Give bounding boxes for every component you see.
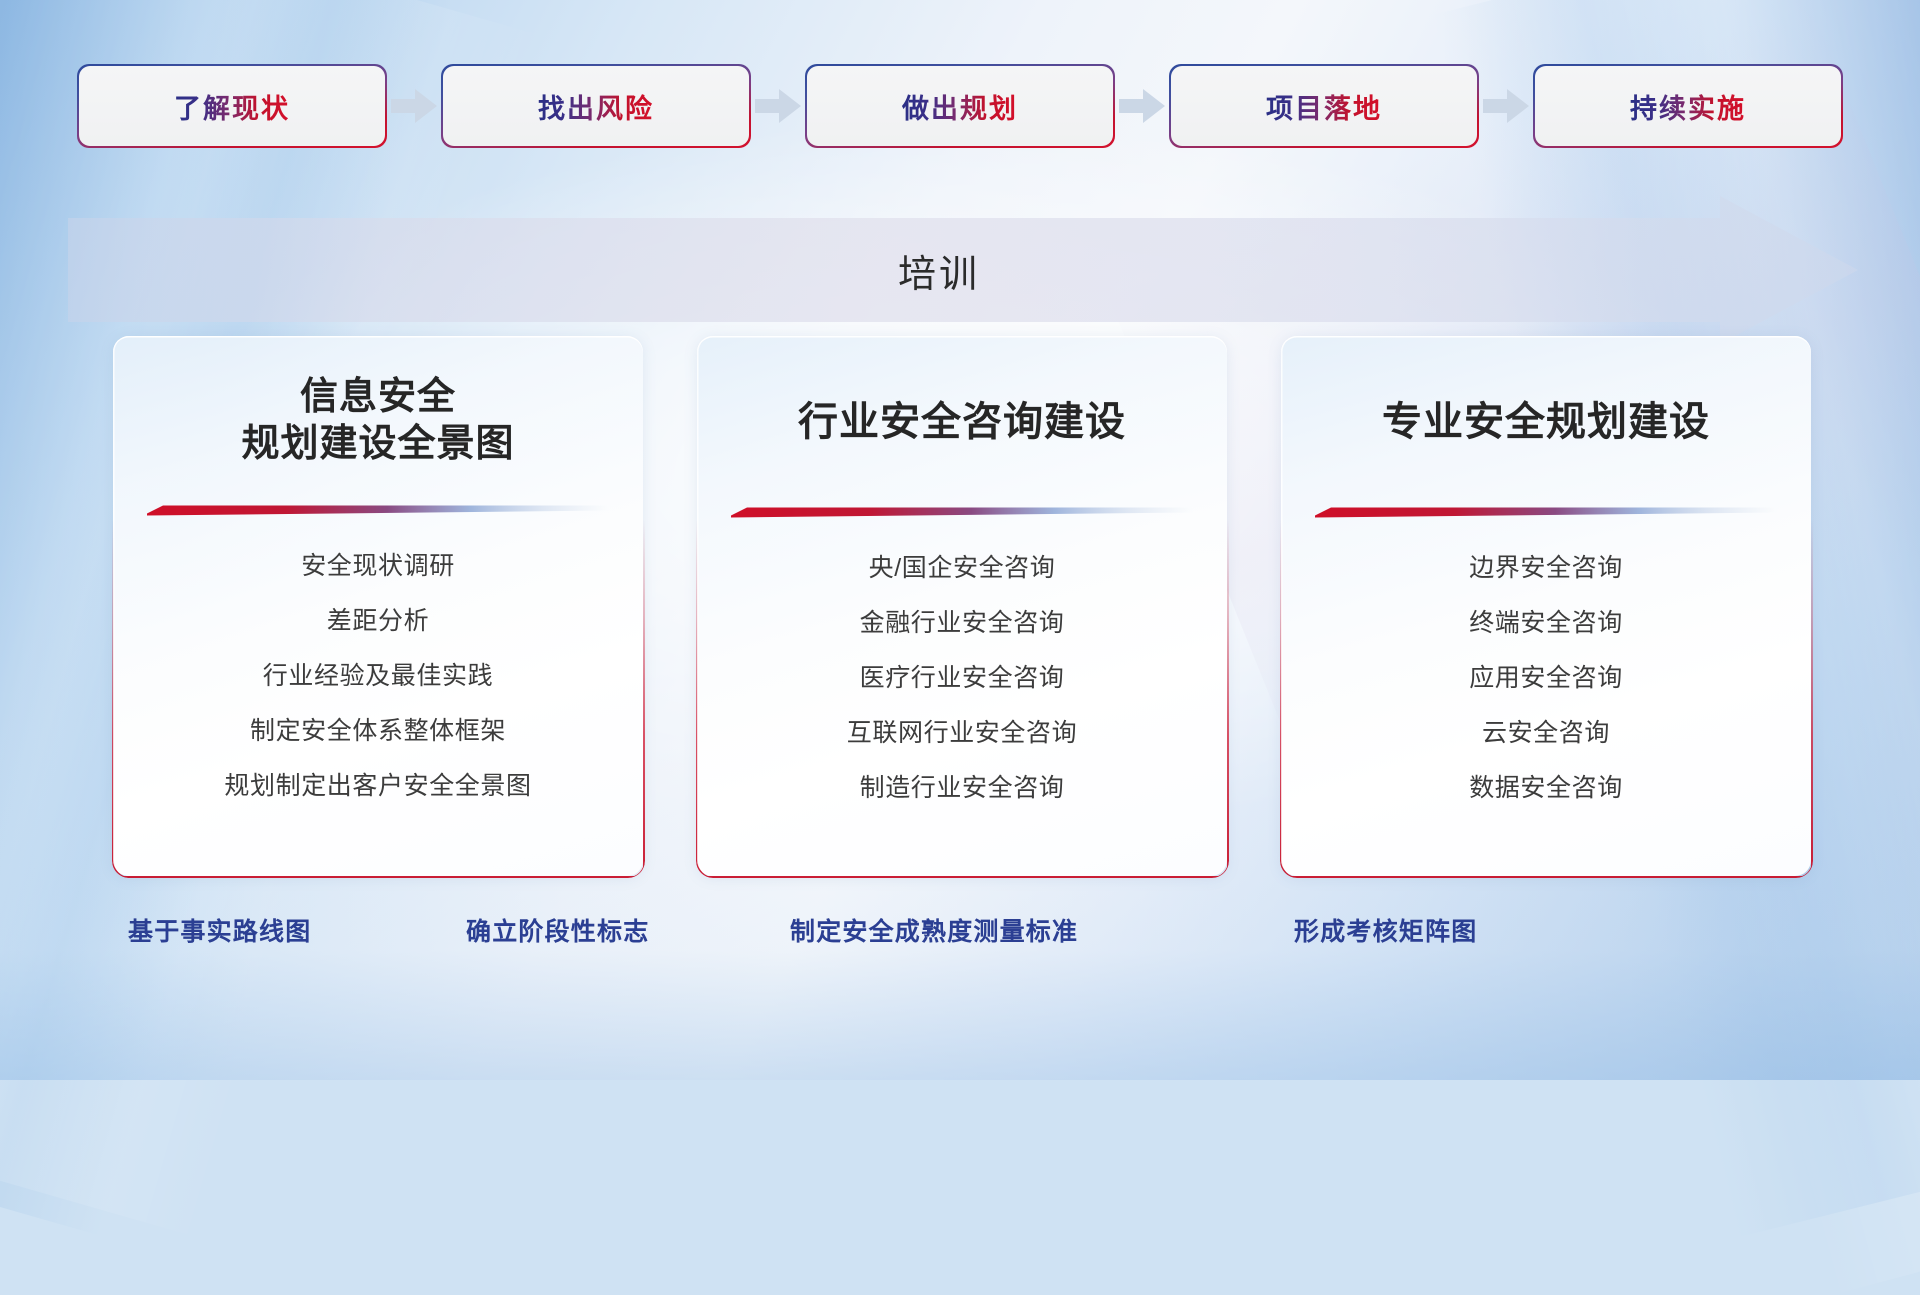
card-title-line-1: 信息安全 [113,374,643,421]
card-item-list-1: 安全现状调研差距分析行业经验及最佳实践制定安全体系整体框架规划制定出客户安全全景… [113,516,643,876]
step-box-5[interactable]: 持续实施 [1535,66,1841,146]
card-divider-1 [147,502,609,516]
card-divider-icon [147,502,609,516]
process-step-row: 了解现状找出风险做出规划项目落地持续实施 [0,62,1920,150]
service-card-2[interactable]: 行业安全咨询建设央/国企安全咨询金融行业安全咨询医疗行业安全咨询互联网行业安全咨… [697,336,1227,876]
arrow-right-icon [755,88,801,124]
card-content: 信息安全规划建设全景图安全现状调研差距分析行业经验及最佳实践制定安全体系整体框架… [113,336,643,876]
step-connector-arrow-3 [1113,62,1171,150]
card-item-list-3: 边界安全咨询终端安全咨询应用安全咨询云安全咨询数据安全咨询 [1281,518,1811,876]
list-item[interactable]: 互联网行业安全咨询 [847,713,1077,749]
card-content: 专业安全规划建设边界安全咨询终端安全咨询应用安全咨询云安全咨询数据安全咨询 [1281,336,1811,876]
card-divider-icon [1315,504,1777,518]
list-item[interactable]: 行业经验及最佳实践 [263,656,493,692]
list-item[interactable]: 安全现状调研 [301,546,455,582]
card-title-line-1: 专业安全规划建设 [1281,398,1811,448]
list-item[interactable]: 云安全咨询 [1482,713,1610,749]
card-divider-3 [1315,504,1777,518]
arrow-right-icon [1483,88,1529,124]
service-card-3[interactable]: 专业安全规划建设边界安全咨询终端安全咨询应用安全咨询云安全咨询数据安全咨询 [1281,336,1811,876]
list-item[interactable]: 差距分析 [327,601,429,637]
card-title-1: 信息安全规划建设全景图 [113,336,643,468]
step-box-4[interactable]: 项目落地 [1171,66,1477,146]
service-card-1[interactable]: 信息安全规划建设全景图安全现状调研差距分析行业经验及最佳实践制定安全体系整体框架… [113,336,643,876]
training-banner-label: 培训 [68,196,1810,344]
footnote-label-2: 确立阶段性标志 [466,912,649,948]
step-connector-arrow-4 [1477,62,1535,150]
step-label-2: 找出风险 [538,87,654,126]
card-divider-2 [731,504,1193,518]
footnote-label-1: 基于事实路线图 [128,912,311,948]
card-title-2: 行业安全咨询建设 [697,336,1227,448]
card-item-list-ul: 边界安全咨询终端安全咨询应用安全咨询云安全咨询数据安全咨询 [1469,548,1623,804]
list-item[interactable]: 规划制定出客户安全全景图 [224,766,531,802]
footnote-label-4: 形成考核矩阵图 [1294,912,1477,948]
step-connector-arrow-2 [749,62,807,150]
list-item[interactable]: 医疗行业安全咨询 [860,658,1065,694]
footnote-label-3: 制定安全成熟度测量标准 [790,912,1078,948]
step-label-3: 做出规划 [902,87,1018,126]
step-box-1[interactable]: 了解现状 [79,66,385,146]
list-item[interactable]: 制定安全体系整体框架 [250,711,506,747]
card-title-3: 专业安全规划建设 [1281,336,1811,448]
list-item[interactable]: 制造行业安全咨询 [860,768,1065,804]
card-item-list-ul: 安全现状调研差距分析行业经验及最佳实践制定安全体系整体框架规划制定出客户安全全景… [224,546,531,802]
card-item-list-ul: 央/国企安全咨询金融行业安全咨询医疗行业安全咨询互联网行业安全咨询制造行业安全咨… [847,548,1077,804]
step-box-3[interactable]: 做出规划 [807,66,1113,146]
list-item[interactable]: 央/国企安全咨询 [869,548,1056,584]
training-banner: 培训 [68,196,1858,344]
list-item[interactable]: 应用安全咨询 [1469,658,1623,694]
arrow-right-icon [391,88,437,124]
step-label-1: 了解现状 [174,87,290,126]
list-item[interactable]: 边界安全咨询 [1469,548,1623,584]
list-item[interactable]: 数据安全咨询 [1469,768,1623,804]
list-item[interactable]: 终端安全咨询 [1469,603,1623,639]
step-label-4: 项目落地 [1266,87,1382,126]
step-box-2[interactable]: 找出风险 [443,66,749,146]
card-title-line-2: 规划建设全景图 [113,421,643,468]
arrow-right-icon [1119,88,1165,124]
service-card-row: 信息安全规划建设全景图安全现状调研差距分析行业经验及最佳实践制定安全体系整体框架… [0,336,1920,876]
card-content: 行业安全咨询建设央/国企安全咨询金融行业安全咨询医疗行业安全咨询互联网行业安全咨… [697,336,1227,876]
card-title-line-1: 行业安全咨询建设 [697,398,1227,448]
step-label-5: 持续实施 [1630,87,1746,126]
list-item[interactable]: 金融行业安全咨询 [860,603,1065,639]
step-connector-arrow-1 [385,62,443,150]
card-item-list-2: 央/国企安全咨询金融行业安全咨询医疗行业安全咨询互联网行业安全咨询制造行业安全咨… [697,518,1227,876]
card-divider-icon [731,504,1193,518]
footnote-row: 基于事实路线图确立阶段性标志制定安全成熟度测量标准形成考核矩阵图 [0,912,1920,962]
